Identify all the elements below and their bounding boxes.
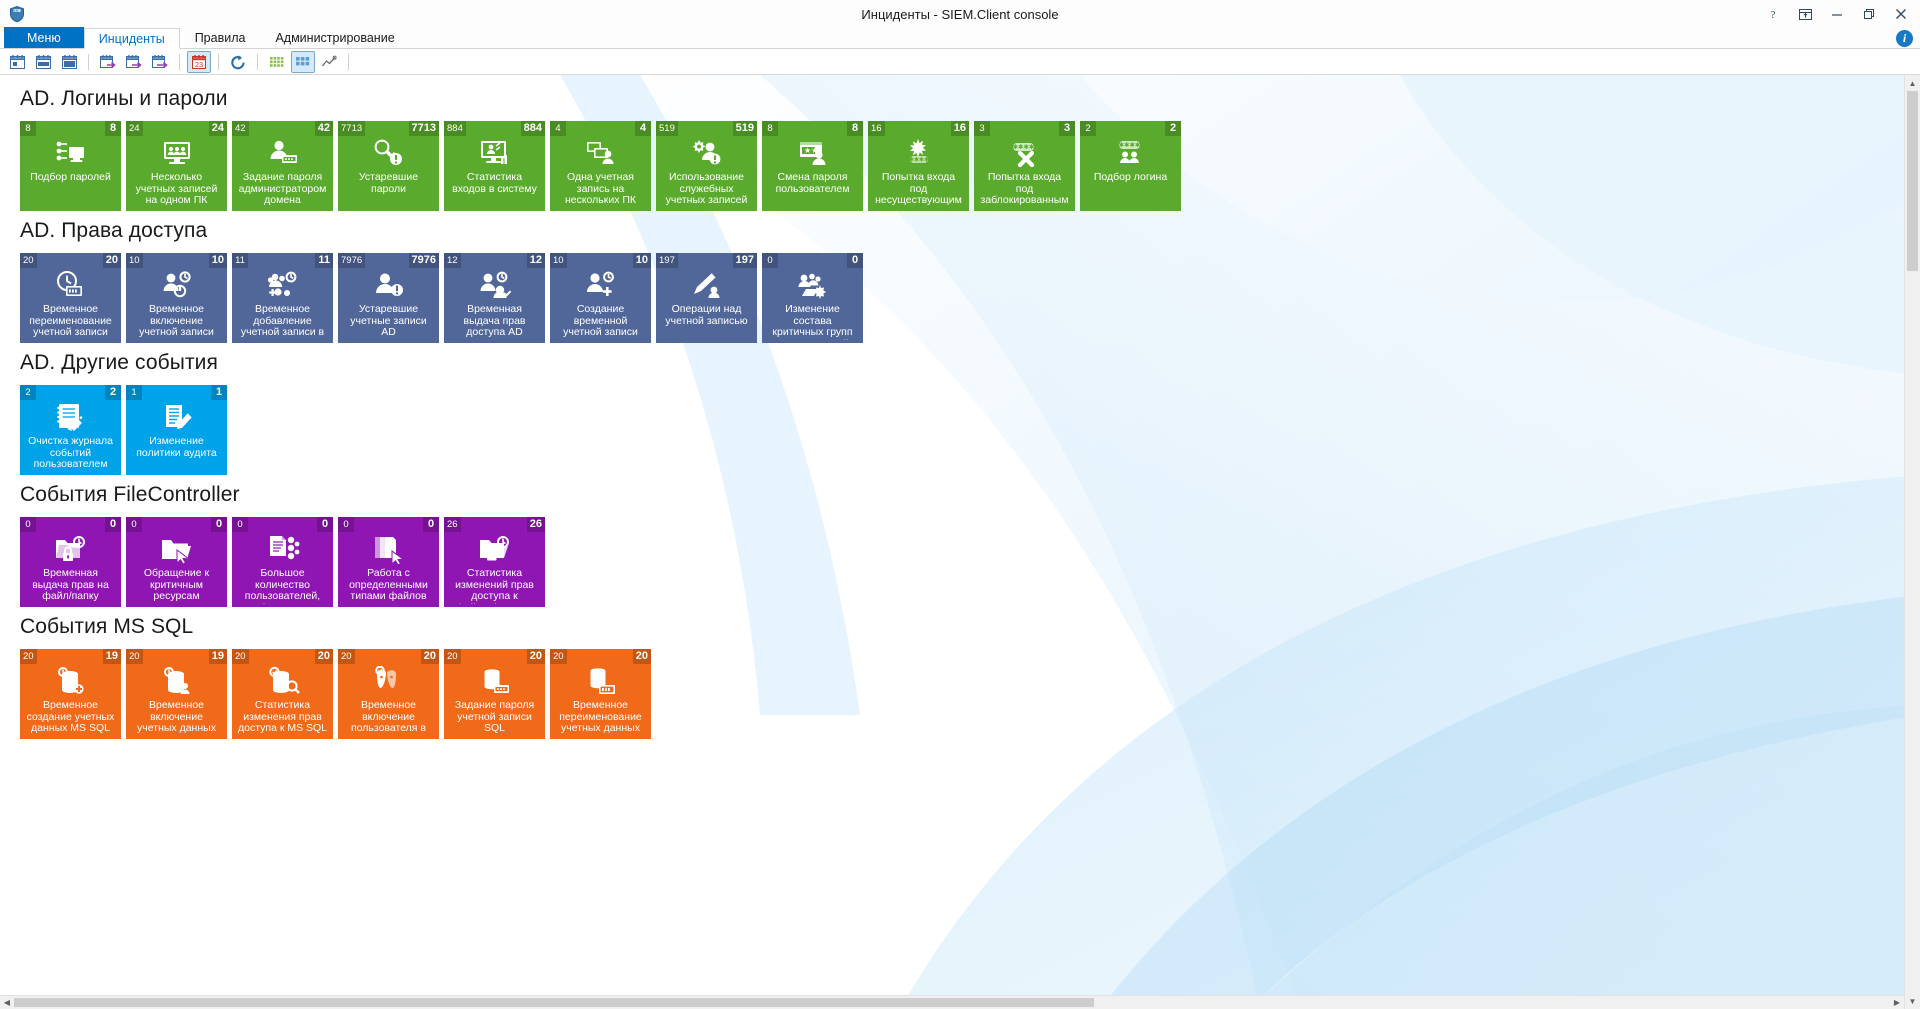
- tile-count-badge: 0: [211, 517, 227, 532]
- incident-tile[interactable]: 1616✱✱✱✱Попытка входа под несуществующим…: [868, 121, 969, 211]
- incident-tile[interactable]: 2020Задание пароля учетной записи SQL ад…: [444, 649, 545, 739]
- period-from-day-button[interactable]: [96, 51, 120, 73]
- tile-label: Временное включение учетной записи: [126, 304, 227, 339]
- info-badge[interactable]: i: [1896, 30, 1913, 47]
- incident-tile[interactable]: 79767976Устаревшие учетные записи AD: [338, 253, 439, 343]
- period-month-button[interactable]: [57, 51, 81, 73]
- login-bruteforce-icon: ✱✱✱✱: [1114, 138, 1148, 168]
- tile-label: Подбор паролей: [20, 172, 121, 184]
- tile-label: Временная выдача прав на файл/папку: [20, 568, 121, 603]
- vertical-scrollbar[interactable]: ▲ ▼: [1904, 75, 1920, 1009]
- view-tiles-button[interactable]: [291, 51, 315, 73]
- tile-group: AD. Логины и пароли88Подбор паролей2424Н…: [20, 87, 1904, 211]
- tile-total-badge: 884: [444, 121, 466, 136]
- tile-label: Подбор логина: [1080, 172, 1181, 184]
- tile-count-badge: 42: [315, 121, 333, 136]
- svg-text:✱✱✱✱: ✱✱✱✱: [1118, 141, 1140, 149]
- window-controls: ?: [1758, 0, 1916, 28]
- tile-count-badge: 12: [527, 253, 545, 268]
- content-area: AD. Логины и пароли88Подбор паролей2424Н…: [0, 75, 1920, 1009]
- tile-label: Одна учетная запись на нескольких ПК: [550, 172, 651, 207]
- temp-file-rights-icon: [54, 534, 88, 564]
- close-button[interactable]: [1886, 2, 1916, 26]
- tile-group: AD. Другие события22Очистка журнала собы…: [20, 351, 1904, 475]
- tile-count-badge: 20: [527, 649, 545, 664]
- tile-label: Обращение к критичным ресурсам: [126, 568, 227, 603]
- key-warning-icon: [372, 138, 406, 168]
- sql-rights-statistics-icon: [266, 666, 300, 696]
- incident-tile[interactable]: 33✱✱✱✱Попытка входа под заблокированным …: [974, 121, 1075, 211]
- tile-total-badge: 11: [232, 253, 248, 268]
- horizontal-scrollbar[interactable]: ◀ ▶: [0, 995, 1904, 1009]
- tile-total-badge: 20: [550, 649, 567, 664]
- incident-tile[interactable]: 22Очистка журнала событий пользователем: [20, 385, 121, 475]
- incident-tile[interactable]: 1010Создание временной учетной записи: [550, 253, 651, 343]
- tile-count-badge: 8: [847, 121, 863, 136]
- tile-count-badge: 20: [421, 649, 439, 664]
- tile-label: Задание пароля учетной записи SQL админи…: [444, 700, 545, 736]
- user-change-password-icon: ★★: [796, 138, 830, 168]
- tile-total-badge: 20: [338, 649, 355, 664]
- toolbar-separator: [257, 54, 258, 70]
- incident-tile[interactable]: 00Обращение к критичным ресурсам: [126, 517, 227, 607]
- tab-rules[interactable]: Правила: [180, 27, 261, 48]
- file-rights-statistics-icon: [478, 534, 512, 564]
- incident-tile[interactable]: 4242Задание пароля администратором домен…: [232, 121, 333, 211]
- sql-temp-rename-icon: [584, 666, 618, 696]
- horizontal-scroll-thumb[interactable]: [14, 998, 1094, 1007]
- tile-count-badge: 26: [527, 517, 545, 532]
- critical-resource-access-icon: [160, 534, 194, 564]
- scroll-right-button[interactable]: ▶: [1890, 996, 1904, 1009]
- incident-tile[interactable]: 77137713Устаревшие пароли: [338, 121, 439, 211]
- tile-total-badge: 20: [444, 649, 461, 664]
- tile-total-badge: 7713: [338, 121, 365, 136]
- period-week-button[interactable]: [31, 51, 55, 73]
- group-title: AD. Права доступа: [20, 219, 1904, 243]
- incident-tile[interactable]: 88Подбор паролей: [20, 121, 121, 211]
- group-title: AD. Логины и пароли: [20, 87, 1904, 111]
- many-users-file-icon: [266, 534, 300, 564]
- view-chart-button[interactable]: [317, 51, 341, 73]
- toolbar-separator: [88, 54, 89, 70]
- tile-total-badge: 20: [126, 649, 143, 664]
- nonexistent-user-logon-icon: ✱✱✱✱: [902, 138, 936, 168]
- help-button[interactable]: ?: [1758, 2, 1788, 26]
- tile-label: Временное включение пользователя в роль …: [338, 700, 439, 736]
- tile-group: События MS SQL2019Временное создание уче…: [20, 615, 1904, 739]
- critical-group-change-icon: [796, 270, 830, 300]
- tile-count-badge: 2: [105, 385, 121, 400]
- ribbon-tab-bar: Меню Инциденты Правила Администрирование…: [0, 28, 1920, 49]
- incident-tile[interactable]: 00Изменение состава критичных групп поль…: [762, 253, 863, 343]
- tile-count-badge: 16: [951, 121, 969, 136]
- tile-group: AD. Права доступа2020Временное переимено…: [20, 219, 1904, 343]
- maximize-restore-button[interactable]: [1854, 2, 1884, 26]
- tile-count-badge: 20: [103, 253, 121, 268]
- sql-set-password-icon: [478, 666, 512, 696]
- tile-count-badge: 0: [847, 253, 863, 268]
- tile-count-badge: 19: [209, 649, 227, 664]
- incident-tile[interactable]: 22✱✱✱✱Подбор логина: [1080, 121, 1181, 211]
- tile-count-badge: 1: [211, 385, 227, 400]
- tile-total-badge: 0: [20, 517, 36, 532]
- incident-tile[interactable]: 00Работа с определенными типами файлов: [338, 517, 439, 607]
- tile-label: Временное включение учетных данных MS SQ…: [126, 700, 227, 736]
- tile-label: Работа с определенными типами файлов: [338, 568, 439, 603]
- incident-tile[interactable]: 1010Временное включение учетной записи: [126, 253, 227, 343]
- tile-total-badge: 3: [974, 121, 990, 136]
- vertical-scroll-thumb[interactable]: [1907, 91, 1918, 271]
- temp-add-to-group-icon: [266, 270, 300, 300]
- tile-group: События FileController00Временная выдача…: [20, 483, 1904, 607]
- tile-count-badge: 197: [733, 253, 757, 268]
- tile-total-badge: 8: [20, 121, 36, 136]
- tile-count-badge: 7713: [409, 121, 439, 136]
- incident-tile[interactable]: 88★★Смена пароля пользователем: [762, 121, 863, 211]
- account-operations-icon: [690, 270, 724, 300]
- admin-set-password-icon: [266, 138, 300, 168]
- scroll-up-button[interactable]: ▲: [1905, 75, 1920, 91]
- tile-count-badge: 20: [315, 649, 333, 664]
- tile-total-badge: 0: [232, 517, 248, 532]
- tile-count-badge: 884: [521, 121, 545, 136]
- select-date-button[interactable]: 23: [187, 51, 211, 73]
- tile-label: Попытка входа под несуществующим пользов…: [868, 172, 969, 208]
- tile-label: Несколько учетных записей на одном ПК: [126, 172, 227, 207]
- tile-label: Устаревшие пароли: [338, 172, 439, 195]
- svg-text:✱✱✱✱: ✱✱✱✱: [908, 157, 928, 164]
- incident-tile[interactable]: 519519Использование служебных учетных за…: [656, 121, 757, 211]
- incident-tile[interactable]: 197197Операции над учетной записью: [656, 253, 757, 343]
- tile-count-badge: 19: [103, 649, 121, 664]
- minimize-button[interactable]: [1822, 2, 1852, 26]
- tile-total-badge: 1: [126, 385, 142, 400]
- incident-tile[interactable]: 1111Временное добавление учетной записи …: [232, 253, 333, 343]
- period-day-button[interactable]: [5, 51, 29, 73]
- logon-statistics-icon: [478, 138, 512, 168]
- scroll-down-button[interactable]: ▼: [1905, 993, 1920, 1009]
- incident-tile[interactable]: 2020Временное включение пользователя в р…: [338, 649, 439, 739]
- incident-tile[interactable]: 2020Временное переименование учетной зап…: [20, 253, 121, 343]
- blocked-user-logon-icon: ✱✱✱✱: [1008, 138, 1042, 168]
- tile-count-badge: 10: [209, 253, 227, 268]
- svg-text:?: ?: [1771, 9, 1776, 20]
- tile-label: Изменение политики аудита: [126, 436, 227, 459]
- stale-accounts-icon: [372, 270, 406, 300]
- tile-total-badge: 0: [126, 517, 142, 532]
- tile-total-badge: 24: [126, 121, 143, 136]
- tile-total-badge: 197: [656, 253, 678, 268]
- incident-tile[interactable]: 884884Статистика входов в систему: [444, 121, 545, 211]
- tile-row: 22Очистка журнала событий пользователем1…: [20, 385, 1904, 475]
- window-title: Инциденты - SIEM.Client console: [0, 7, 1920, 22]
- audit-policy-change-icon: [160, 402, 194, 432]
- incident-tile[interactable]: 2020Статистика изменения прав доступа к …: [232, 649, 333, 739]
- period-from-month-button[interactable]: [148, 51, 172, 73]
- service-account-icon: [690, 138, 724, 168]
- incident-tile[interactable]: 2020Временное переименование учетных дан…: [550, 649, 651, 739]
- tile-label: Статистика изменений прав доступа к файл…: [444, 568, 545, 604]
- tile-total-badge: 10: [550, 253, 567, 268]
- tile-label: Временная выдача прав доступа AD: [444, 304, 545, 339]
- tile-total-badge: 4: [550, 121, 566, 136]
- tile-label: Смена пароля пользователем: [762, 172, 863, 195]
- tile-total-badge: 8: [762, 121, 778, 136]
- ribbon-display-options-button[interactable]: [1790, 2, 1820, 26]
- temp-grant-rights-icon: [478, 270, 512, 300]
- toolbar-separator: [179, 54, 180, 70]
- tile-label: Использование служебных учетных записей …: [656, 172, 757, 208]
- tile-count-badge: 3: [1059, 121, 1075, 136]
- sql-temp-create-account-icon: [54, 666, 88, 696]
- tile-count-badge: 20: [633, 649, 651, 664]
- svg-text:✱✱✱✱: ✱✱✱✱: [1012, 143, 1034, 151]
- create-temp-account-icon: [584, 270, 618, 300]
- tile-total-badge: 519: [656, 121, 678, 136]
- tile-count-badge: 10: [633, 253, 651, 268]
- tile-label: Временное добавление учетной записи в гр…: [232, 304, 333, 340]
- tile-label: Временное переименование учетных данных …: [550, 700, 651, 736]
- multiple-accounts-pc-icon: [160, 138, 194, 168]
- shield-logo-icon: [4, 1, 30, 27]
- tile-row: 88Подбор паролей2424Несколько учетных за…: [20, 121, 1904, 211]
- tile-label: Большое количество пользователей, работа…: [232, 568, 333, 604]
- tab-administration[interactable]: Администрирование: [260, 27, 409, 48]
- incident-tile[interactable]: 2424Несколько учетных записей на одном П…: [126, 121, 227, 211]
- sql-temp-enable-account-icon: [160, 666, 194, 696]
- group-title: События FileController: [20, 483, 1904, 507]
- toolbar: 23: [0, 49, 1920, 75]
- tile-label: Устаревшие учетные записи AD: [338, 304, 439, 339]
- clear-event-log-icon: [54, 402, 88, 432]
- tile-total-badge: 0: [338, 517, 354, 532]
- tile-count-badge: 0: [423, 517, 439, 532]
- group-title: AD. Другие события: [20, 351, 1904, 375]
- temp-rename-account-icon: [54, 270, 88, 300]
- incident-tile[interactable]: 2626Статистика изменений прав доступа к …: [444, 517, 545, 607]
- incident-tile[interactable]: 2019Временное создание учетных данных MS…: [20, 649, 121, 739]
- tile-label: Задание пароля администратором домена: [232, 172, 333, 207]
- tile-count-badge: 519: [733, 121, 757, 136]
- tile-total-badge: 0: [762, 253, 778, 268]
- temp-enable-account-icon: [160, 270, 194, 300]
- account-multiple-pc-icon: [584, 138, 618, 168]
- tile-label: Изменение состава критичных групп пользо…: [762, 304, 863, 340]
- tile-count-badge: 0: [317, 517, 333, 532]
- tile-total-badge: 26: [444, 517, 461, 532]
- incident-tile[interactable]: 2019Временное включение учетных данных M…: [126, 649, 227, 739]
- tile-total-badge: 20: [232, 649, 249, 664]
- title-bar: Инциденты - SIEM.Client console ?: [0, 0, 1920, 28]
- incident-tile[interactable]: 1212Временная выдача прав доступа AD: [444, 253, 545, 343]
- tile-total-badge: 20: [20, 253, 37, 268]
- tile-count-badge: 4: [635, 121, 651, 136]
- tile-label: Очистка журнала событий пользователем: [20, 436, 121, 471]
- tile-count-badge: 11: [315, 253, 333, 268]
- period-from-week-button[interactable]: [122, 51, 146, 73]
- tile-count-badge: 0: [105, 517, 121, 532]
- svg-text:23: 23: [195, 60, 203, 69]
- tile-label: Временное переименование учетной записи: [20, 304, 121, 339]
- view-list-button[interactable]: [265, 51, 289, 73]
- tile-row: 00Временная выдача прав на файл/папку00О…: [20, 517, 1904, 607]
- tile-label: Статистика входов в систему: [444, 172, 545, 195]
- tile-total-badge: 2: [20, 385, 36, 400]
- tile-count-badge: 8: [105, 121, 121, 136]
- tile-board[interactable]: AD. Логины и пароли88Подбор паролей2424Н…: [0, 75, 1904, 1009]
- file-types-icon: [372, 534, 406, 564]
- tile-count-badge: 2: [1165, 121, 1181, 136]
- password-bruteforce-icon: [54, 138, 88, 168]
- sql-temp-role-icon: [372, 666, 406, 696]
- tab-incidents[interactable]: Инциденты: [84, 28, 180, 49]
- tile-label: Временное создание учетных данных MS SQL: [20, 700, 121, 735]
- incident-tile[interactable]: 00Временная выдача прав на файл/папку: [20, 517, 121, 607]
- tile-label: Статистика изменения прав доступа к MS S…: [232, 700, 333, 735]
- tile-total-badge: 16: [868, 121, 885, 136]
- tile-total-badge: 10: [126, 253, 143, 268]
- incident-tile[interactable]: 44Одна учетная запись на нескольких ПК: [550, 121, 651, 211]
- tile-total-badge: 2: [1080, 121, 1096, 136]
- tile-count-badge: 24: [209, 121, 227, 136]
- tile-total-badge: 42: [232, 121, 249, 136]
- tile-row: 2019Временное создание учетных данных MS…: [20, 649, 1904, 739]
- group-title: События MS SQL: [20, 615, 1904, 639]
- tab-menu[interactable]: Меню: [4, 27, 84, 48]
- tile-row: 2020Временное переименование учетной зап…: [20, 253, 1904, 343]
- tile-total-badge: 7976: [338, 253, 365, 268]
- tile-count-badge: 7976: [409, 253, 439, 268]
- tile-total-badge: 20: [20, 649, 37, 664]
- tile-label: Операции над учетной записью: [656, 304, 757, 327]
- toolbar-separator: [348, 54, 349, 70]
- tile-label: Попытка входа под заблокированным пользо…: [974, 172, 1075, 208]
- incident-tile[interactable]: 00Большое количество пользователей, рабо…: [232, 517, 333, 607]
- toolbar-separator: [218, 54, 219, 70]
- refresh-button[interactable]: [226, 51, 250, 73]
- incident-tile[interactable]: 11Изменение политики аудита: [126, 385, 227, 475]
- tile-label: Создание временной учетной записи: [550, 304, 651, 339]
- scroll-left-button[interactable]: ◀: [0, 996, 14, 1009]
- tile-total-badge: 12: [444, 253, 461, 268]
